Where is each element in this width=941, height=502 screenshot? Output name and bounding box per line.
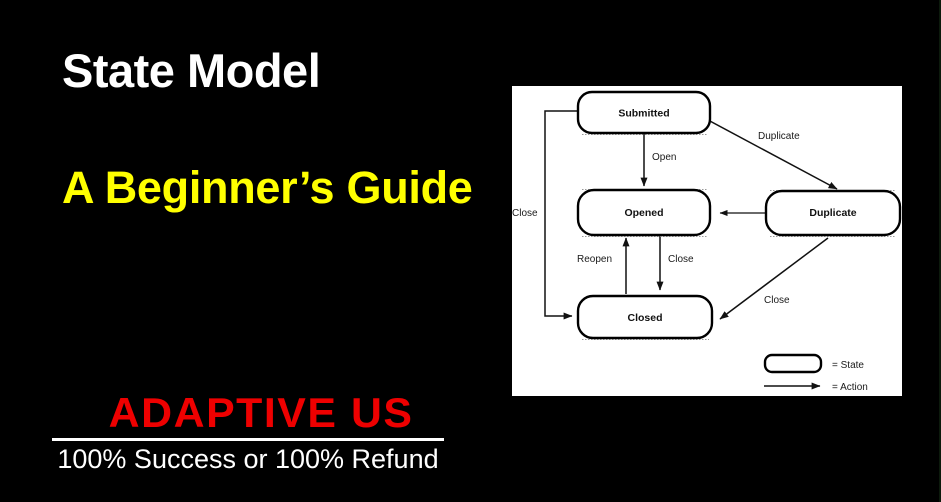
- state-label-closed: Closed: [627, 312, 662, 324]
- legend-label-state: = State: [832, 360, 864, 371]
- logo-divider: [52, 438, 444, 441]
- title-block: State Model: [62, 46, 482, 95]
- transition-closed-opened: Reopen: [577, 238, 626, 294]
- transition-opened-closed: Close: [660, 236, 694, 290]
- diagram-legend: = State = Action: [764, 355, 868, 393]
- transition-label-close-right: Close: [764, 295, 790, 306]
- transition-label-open: Open: [652, 152, 676, 163]
- state-node-opened[interactable]: Opened: [578, 190, 710, 237]
- state-node-submitted[interactable]: Submitted: [578, 92, 710, 135]
- state-model-diagram: Open Duplicate Close Close Reopen: [512, 86, 902, 396]
- legend-label-action: = Action: [832, 382, 868, 393]
- slide-canvas: State Model A Beginner’s Guide ADAPTIVE …: [0, 0, 941, 502]
- transition-label-duplicate: Duplicate: [758, 131, 800, 142]
- state-label-submitted: Submitted: [618, 107, 669, 119]
- transition-submitted-opened: Open: [644, 133, 676, 186]
- logo-tagline: 100% Success or 100% Refund: [52, 444, 444, 475]
- legend-item-action: = Action: [764, 382, 868, 393]
- logo-wordmark: ADAPTIVE US: [52, 392, 470, 434]
- transition-submitted-closed: Close: [512, 111, 578, 316]
- brand-logo: ADAPTIVE US 100% Success or 100% Refund: [52, 392, 462, 475]
- state-node-duplicate[interactable]: Duplicate: [766, 191, 900, 237]
- state-diagram-svg: Open Duplicate Close Close Reopen: [512, 86, 902, 396]
- legend-item-state: = State: [765, 355, 864, 372]
- state-label-opened: Opened: [624, 207, 663, 219]
- state-node-closed[interactable]: Closed: [578, 296, 712, 340]
- page-title: State Model: [62, 46, 482, 95]
- state-label-duplicate: Duplicate: [809, 207, 856, 219]
- transition-label-reopen: Reopen: [577, 254, 612, 265]
- transition-label-close-mid: Close: [668, 254, 694, 265]
- transition-duplicate-closed: Close: [720, 238, 828, 319]
- page-subtitle: A Beginner’s Guide: [62, 160, 482, 216]
- transition-label-close-left: Close: [512, 208, 538, 219]
- transition-submitted-duplicate: Duplicate: [708, 120, 837, 189]
